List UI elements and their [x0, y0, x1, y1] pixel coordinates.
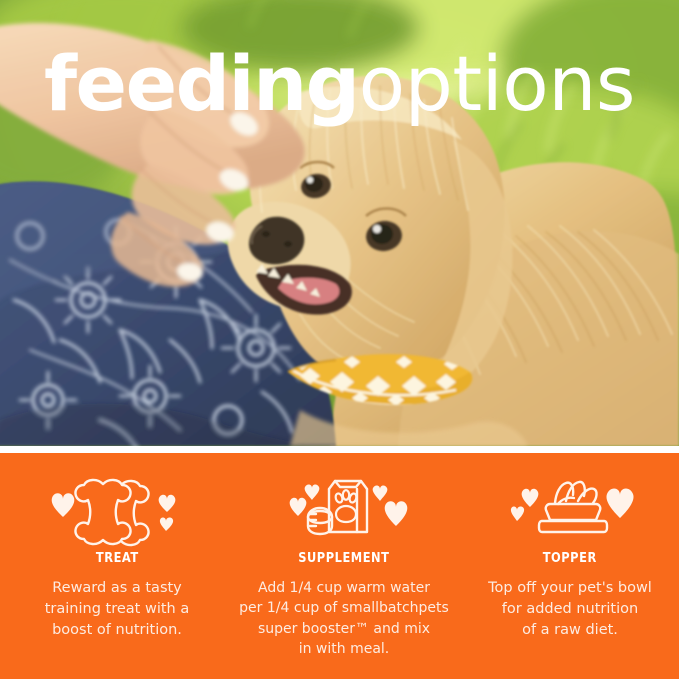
option-title-supplement: SUPPLEMENT — [298, 551, 389, 566]
dog-bone-with-hearts-icon — [49, 477, 185, 537]
option-title-topper: TOPPER — [543, 551, 597, 566]
supplement-icon-wrap — [274, 475, 414, 539]
feeding-options-panel: TREAT Reward as a tasty training treat w… — [0, 453, 679, 679]
section-divider — [0, 446, 679, 453]
options-columns: TREAT Reward as a tasty training treat w… — [8, 475, 671, 659]
hero-photo: feedingoptions — [0, 0, 679, 446]
treat-icon-wrap — [49, 475, 185, 539]
option-title-treat: TREAT — [96, 551, 139, 566]
topper-icon-wrap — [500, 475, 640, 539]
food-bag-with-paw-and-scoop-icon — [274, 476, 414, 538]
dog-bowl-with-food-icon — [500, 477, 640, 537]
dog-photograph — [0, 0, 679, 446]
feeding-options-infographic: feedingoptions — [0, 0, 679, 679]
option-description-supplement: Add 1/4 cup warm water per 1/4 cup of sm… — [239, 578, 449, 659]
option-column-topper: TOPPER Top off your pet's bowl for added… — [468, 475, 676, 641]
option-description-treat: Reward as a tasty training treat with a … — [45, 578, 189, 641]
option-column-supplement: SUPPLEMENT Add 1/4 cup warm water per 1/… — [220, 475, 468, 659]
option-column-treat: TREAT Reward as a tasty training treat w… — [8, 475, 220, 641]
option-description-topper: Top off your pet's bowl for added nutrit… — [488, 578, 652, 641]
